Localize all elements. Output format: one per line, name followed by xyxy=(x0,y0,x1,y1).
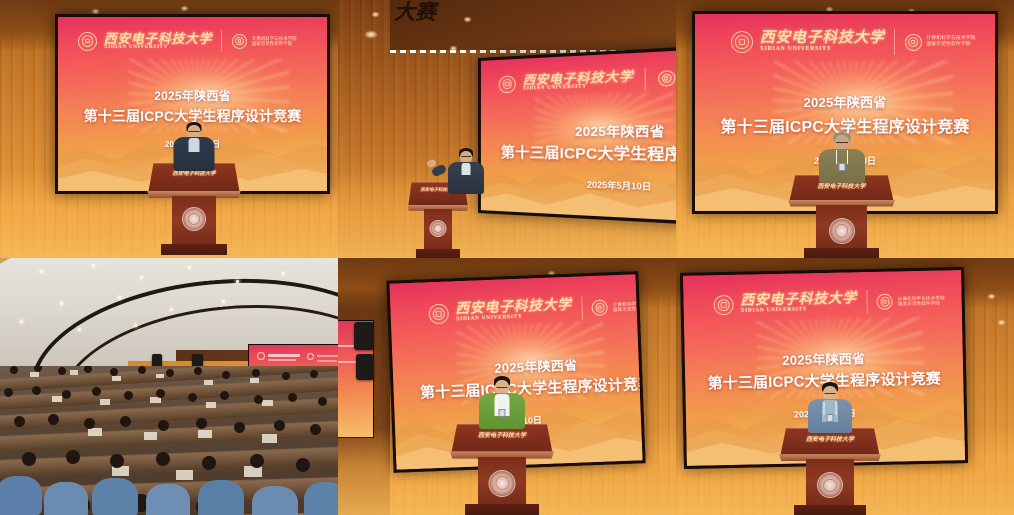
collage-photo-bottom-left xyxy=(0,258,338,515)
university-name-cn: 西安电子科技大学 xyxy=(760,31,885,46)
speaker-figure xyxy=(794,382,866,432)
header-divider xyxy=(581,296,583,320)
collage-photo-top-center: 大赛 xyxy=(338,0,676,258)
school-emblem-icon xyxy=(307,353,314,360)
event-title-line2: 第十三届ICPC大学生程序设计竞赛 xyxy=(495,142,676,167)
speaker-figure xyxy=(155,122,233,170)
audience-seating xyxy=(0,366,338,515)
school-emblem-icon xyxy=(232,34,247,49)
podium: 西安电子科技大学 xyxy=(451,424,553,515)
podium-seal-icon xyxy=(182,207,206,231)
header-divider xyxy=(866,290,868,314)
wall-speaker-icon xyxy=(356,354,374,380)
event-title-line1: 2025年陕西省 xyxy=(58,87,327,104)
school-emblem-icon xyxy=(905,34,922,51)
event-title-line1: 2025年陕西省 xyxy=(495,121,676,141)
podium: 西安电子科技大学 xyxy=(148,163,240,255)
school-name-line2: 国家示范性软件学院 xyxy=(927,42,976,48)
ceiling-light-icon xyxy=(365,31,377,38)
school-name-line2: 国家示范性软件学院 xyxy=(898,300,945,306)
ceiling-light-icon xyxy=(998,320,1005,325)
podium-label: 西安电子科技大学 xyxy=(788,434,872,443)
collage-photo-top-right: 西安电子科技大学 XIDIAN UNIVERSITY 计算机科学与技术学院 国家… xyxy=(676,0,1014,258)
xidian-emblem-icon xyxy=(499,75,516,93)
university-name-cn: 西安电子科技大学 xyxy=(104,32,212,45)
school-emblem-icon xyxy=(877,294,893,310)
university-name-en: XIDIAN UNIVERSITY xyxy=(740,307,857,315)
ceiling-light-icon xyxy=(988,294,995,299)
collage-photo-bottom-center: 西安电子科技大学 XIDIAN UNIVERSITY 计算机科学与技术学院 国家… xyxy=(338,258,676,515)
podium-seal-icon xyxy=(489,470,516,497)
school-name-line2: 国家示范性软件学院 xyxy=(252,41,297,46)
podium: 西安电子科技大学 xyxy=(780,428,880,515)
screen-surface: 西安电子科技大学 XIDIAN UNIVERSITY 计算机科学与技术学院 国家… xyxy=(481,49,676,222)
xidian-emblem-icon xyxy=(713,295,733,315)
ceiling-light-icon xyxy=(464,17,471,22)
ceiling-light-icon xyxy=(372,12,379,17)
speaker-figure xyxy=(466,376,538,428)
podium-seal-icon xyxy=(829,218,855,244)
collage-photo-top-left: 西安电子科技大学 XIDIAN UNIVERSITY 计算机科学与技术学院 国家… xyxy=(0,0,338,258)
xidian-emblem-icon xyxy=(731,31,753,53)
xidian-emblem-icon xyxy=(428,304,449,325)
podium: 西安电子科技大学 xyxy=(789,175,894,258)
school-emblem-icon xyxy=(658,70,675,86)
header-divider xyxy=(894,29,895,55)
podium-label: 西安电子科技大学 xyxy=(459,430,545,439)
led-stage-screen: 西安电子科技大学 XIDIAN UNIVERSITY 计算机科学与技术学院 国家… xyxy=(478,45,676,225)
xidian-emblem-icon xyxy=(257,352,265,360)
header-divider xyxy=(645,68,646,90)
photo-collage: 西安电子科技大学 XIDIAN UNIVERSITY 计算机科学与技术学院 国家… xyxy=(0,0,1014,515)
podium-seal-icon xyxy=(430,220,447,237)
ceiling-light-icon xyxy=(181,6,188,11)
speaker-figure xyxy=(802,132,882,182)
podium-seal-icon xyxy=(817,472,843,498)
university-name-en: XIDIAN UNIVERSITY xyxy=(760,47,885,53)
wall-speaker-icon xyxy=(354,322,374,350)
hall-wall-sign: 大赛 xyxy=(394,0,436,26)
ceiling-light-icon xyxy=(450,46,457,51)
xidian-emblem-icon xyxy=(78,32,97,51)
collage-photo-bottom-right: 西安电子科技大学 XIDIAN UNIVERSITY 计算机科学与技术学院 国家… xyxy=(676,258,1014,515)
header-divider xyxy=(221,30,222,52)
event-title-line1: 2025年陕西省 xyxy=(695,92,995,111)
speaker-figure xyxy=(438,148,494,204)
school-emblem-icon xyxy=(592,299,609,316)
